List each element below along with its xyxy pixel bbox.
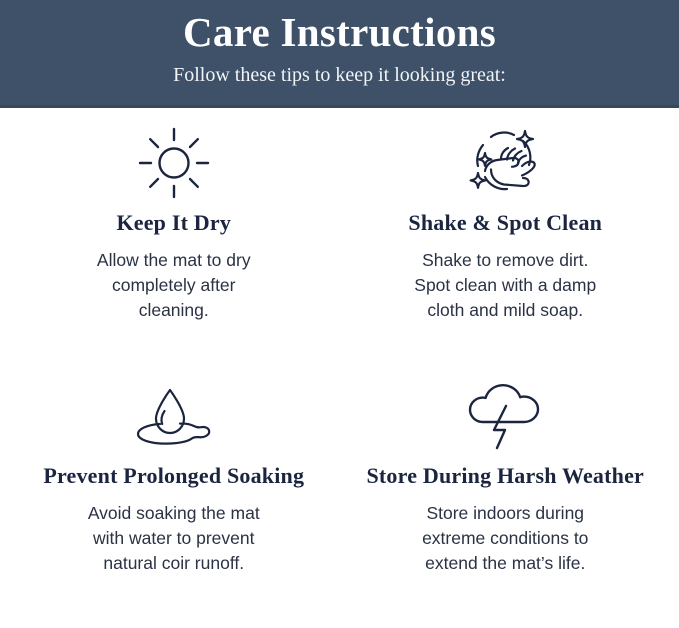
sun-icon	[136, 122, 212, 204]
care-card-title: Shake & Spot Clean	[408, 210, 602, 236]
care-card-store-harsh-weather: Store During Harsh Weather Store indoors…	[340, 375, 672, 628]
care-card-shake-spot-clean: Shake & Spot Clean Shake to remove dirt.…	[340, 122, 672, 375]
storm-cloud-lightning-icon	[463, 375, 547, 457]
care-instructions-infographic: Care Instructions Follow these tips to k…	[0, 0, 679, 628]
body-line: with water to prevent	[88, 526, 260, 551]
body-line: cloth and mild soap.	[414, 298, 596, 323]
body-line: completely after	[97, 273, 251, 298]
body-line: Avoid soaking the mat	[88, 501, 260, 526]
care-card-keep-it-dry: Keep It Dry Allow the mat to dry complet…	[8, 122, 340, 375]
care-card-body: Store indoors during extreme conditions …	[422, 501, 588, 576]
body-line: cleaning.	[97, 298, 251, 323]
body-line: natural coir runoff.	[88, 551, 260, 576]
care-tips-grid: Keep It Dry Allow the mat to dry complet…	[0, 108, 679, 628]
body-line: extend the mat’s life.	[422, 551, 588, 576]
care-card-body: Avoid soaking the mat with water to prev…	[88, 501, 260, 576]
body-line: Spot clean with a damp	[414, 273, 596, 298]
care-card-body: Shake to remove dirt. Spot clean with a …	[414, 248, 596, 323]
water-droplet-puddle-icon	[126, 375, 222, 457]
care-card-body: Allow the mat to dry completely after cl…	[97, 248, 251, 323]
body-line: Store indoors during	[422, 501, 588, 526]
page-title: Care Instructions	[183, 8, 496, 54]
washing-hands-sparkle-icon	[461, 122, 549, 204]
header-banner: Care Instructions Follow these tips to k…	[0, 0, 679, 108]
care-card-title: Store During Harsh Weather	[366, 463, 644, 489]
care-card-title: Prevent Prolonged Soaking	[43, 463, 304, 489]
page-subtitle: Follow these tips to keep it looking gre…	[173, 54, 506, 87]
body-line: Allow the mat to dry	[97, 248, 251, 273]
care-card-prevent-soaking: Prevent Prolonged Soaking Avoid soaking …	[8, 375, 340, 628]
care-card-title: Keep It Dry	[116, 210, 231, 236]
body-line: extreme conditions to	[422, 526, 588, 551]
body-line: Shake to remove dirt.	[414, 248, 596, 273]
